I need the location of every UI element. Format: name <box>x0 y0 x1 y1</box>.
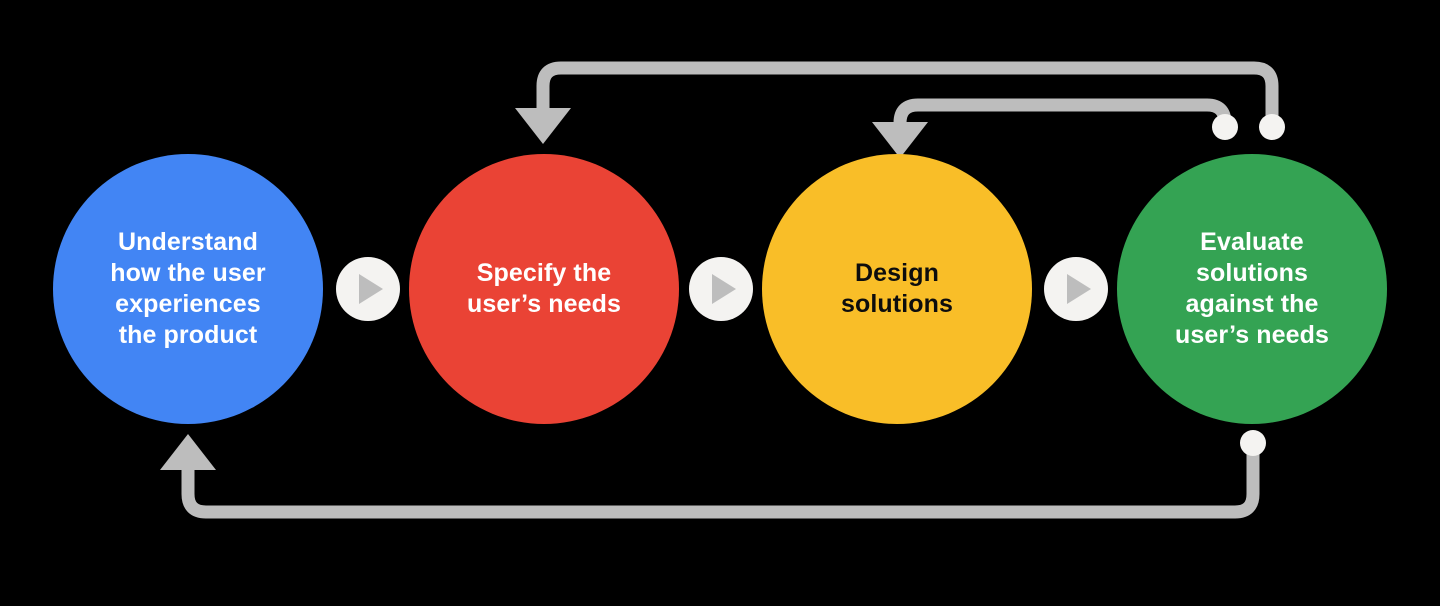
arrow-evaluate-to-design <box>872 105 1225 158</box>
stage-circle-understand[interactable]: Understand how the user experiences the … <box>53 154 323 424</box>
connector-specify-design[interactable] <box>689 257 753 321</box>
play-icon <box>359 274 383 304</box>
stage-circle-specify[interactable]: Specify the user’s needs <box>409 154 679 424</box>
arrow-origin-dot-specify <box>1259 114 1285 140</box>
arrow-evaluate-to-specify <box>515 68 1272 144</box>
connector-understand-specify[interactable] <box>336 257 400 321</box>
stage-circle-design[interactable]: Design solutions <box>762 154 1032 424</box>
stage-label-design: Design solutions <box>823 258 971 320</box>
arrow-evaluate-to-understand <box>160 434 1253 512</box>
connector-design-evaluate[interactable] <box>1044 257 1108 321</box>
play-icon <box>1067 274 1091 304</box>
process-diagram: Understand how the user experiences the … <box>0 0 1440 606</box>
stage-label-understand: Understand how the user experiences the … <box>92 227 283 351</box>
arrow-origin-dot-understand <box>1240 430 1266 456</box>
stage-circle-evaluate[interactable]: Evaluate solutions against the user’s ne… <box>1117 154 1387 424</box>
arrow-origin-dot-design <box>1212 114 1238 140</box>
stage-label-specify: Specify the user’s needs <box>449 258 639 320</box>
stage-label-evaluate: Evaluate solutions against the user’s ne… <box>1157 227 1347 351</box>
play-icon <box>712 274 736 304</box>
